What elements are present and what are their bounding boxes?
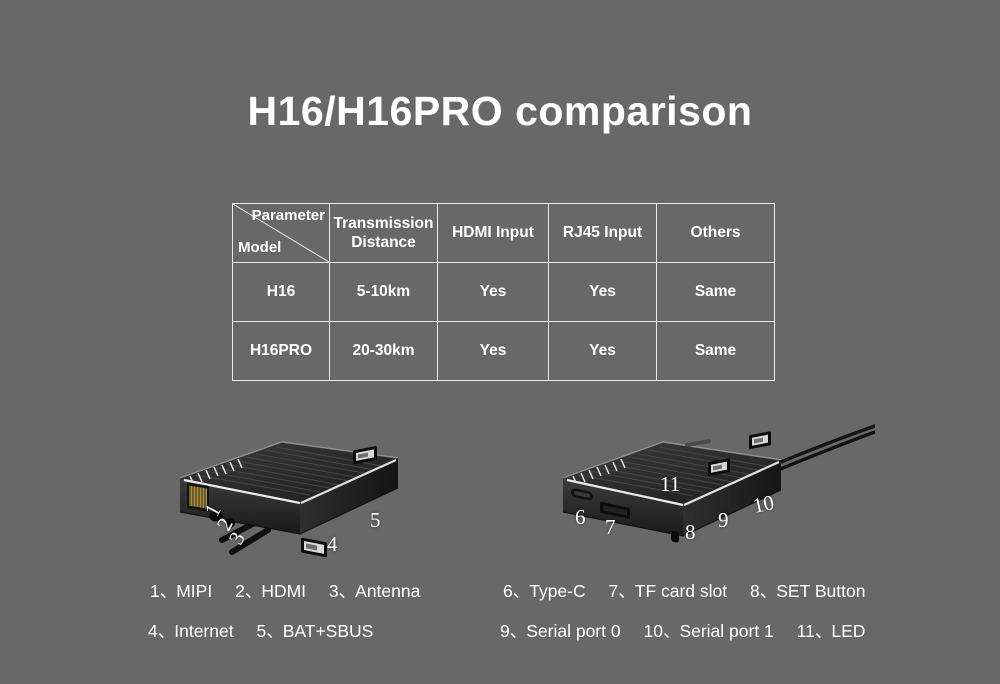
cell-model-h16: H16 [233,263,330,322]
legend-num: 7 [609,581,619,601]
corner-header-model-label: Model [238,239,281,258]
legend-num: 8 [750,581,760,601]
legend-num: 10 [643,621,662,641]
table-header-row: Parameter Model Transmission Distance HD… [233,204,775,263]
legend-num: 5 [256,621,266,641]
cell-rj45-h16pro: Yes [549,322,657,381]
legend-label: SET Button [776,581,865,601]
cell-model-h16pro: H16PRO [233,322,330,381]
legend-left-row-2: 4、Internet 5、BAT+SBUS [148,618,391,643]
callout-9: 9 [718,508,729,533]
legend-label: Serial port 1 [679,621,773,641]
legend-label: HDMI [261,581,306,601]
right-device-illustration [545,420,875,570]
legend-item-tf-card-slot: 7、TF card slot [609,581,728,601]
legend-item-set-button: 8、SET Button [750,581,865,601]
column-header-transmission-distance: Transmission Distance [330,204,438,263]
legend-sep: 、 [245,581,262,601]
legend-sep: 、 [158,621,175,641]
legend-right-row-2: 9、Serial port 0 10、Serial port 1 11、LED [500,618,883,643]
legend-item-led: 11、LED [797,621,866,641]
legend-num: 9 [500,621,510,641]
table-row: H16PRO 20-30km Yes Yes Same [233,322,775,381]
column-header-hdmi-input: HDMI Input [438,204,549,263]
legend-item-serial-port-0: 9、Serial port 0 [500,621,621,641]
callout-6: 6 [575,505,586,530]
table-row: H16 5-10km Yes Yes Same [233,263,775,322]
legend-left-row-1: 1、MIPI 2、HDMI 3、Antenna [150,578,438,603]
legend-label: Internet [174,621,233,641]
comparison-table: Parameter Model Transmission Distance HD… [232,203,775,381]
legend-num: 3 [329,581,339,601]
legend-sep: 、 [663,621,680,641]
legend-sep: 、 [815,621,832,641]
callout-11: 11 [660,472,680,497]
legend-label: LED [831,621,865,641]
legend-sep: 、 [266,621,283,641]
page-title: H16/H16PRO comparison [0,88,1000,135]
legend-label: TF card slot [635,581,727,601]
comparison-page: H16/H16PRO comparison Parameter Model Tr… [0,0,1000,684]
cell-distance-h16: 5-10km [330,263,438,322]
legend-sep: 、 [618,581,635,601]
corner-header-parameter-label: Parameter [252,207,325,226]
legend-sep: 、 [510,621,527,641]
callout-5: 5 [370,508,381,533]
cell-others-h16pro: Same [657,322,775,381]
legend-item-serial-port-1: 10、Serial port 1 [643,621,773,641]
legend-right-row-1: 6、Type-C 7、TF card slot 8、SET Button [503,578,883,603]
callout-4: 4 [327,532,338,557]
legend-item-mipi: 1、MIPI [150,581,212,601]
legend-num: 4 [148,621,158,641]
legend-label: Antenna [355,581,420,601]
led-indicator [685,439,711,448]
callout-8: 8 [685,520,696,545]
legend-label: Type-C [529,581,585,601]
legend-sep: 、 [339,581,356,601]
legend-num: 1 [150,581,160,601]
cell-hdmi-h16pro: Yes [438,322,549,381]
cell-others-h16: Same [657,263,775,322]
device-image-left: 1 2 3 4 5 [160,430,480,570]
column-header-others: Others [657,204,775,263]
legend-item-type-c: 6、Type-C [503,581,586,601]
legend-label: MIPI [176,581,212,601]
left-device-illustration [160,430,480,570]
serial-port-1 [749,431,771,449]
legend-sep: 、 [160,581,177,601]
cell-rj45-h16: Yes [549,263,657,322]
legend-item-hdmi: 2、HDMI [235,581,306,601]
legend-item-bat-sbus: 5、BAT+SBUS [256,621,373,641]
legend-sep: 、 [760,581,777,601]
legend-label: Serial port 0 [526,621,620,641]
table-corner-header: Parameter Model [233,204,330,263]
legend-num: 6 [503,581,513,601]
column-header-rj45-input: RJ45 Input [549,204,657,263]
legend-item-antenna: 3、Antenna [329,581,420,601]
usb-port-internet [301,537,327,557]
legend-sep: 、 [513,581,530,601]
device-image-right: 6 7 8 9 10 11 [545,420,875,570]
cell-distance-h16pro: 20-30km [330,322,438,381]
callout-7: 7 [605,515,616,540]
cell-hdmi-h16: Yes [438,263,549,322]
legend-item-internet: 4、Internet [148,621,234,641]
legend-num: 2 [235,581,245,601]
legend-label: BAT+SBUS [283,621,374,641]
legend-num: 11 [797,621,815,641]
